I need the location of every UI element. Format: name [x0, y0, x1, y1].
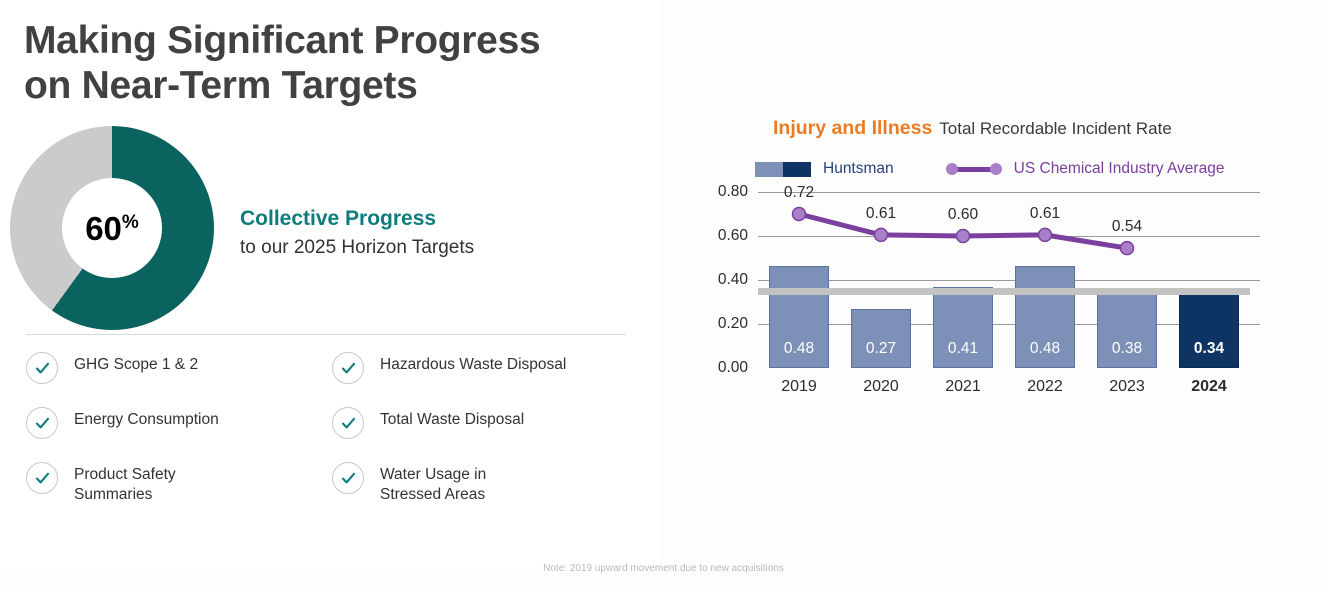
- line-series-us-average: 0.720.610.600.610.54: [758, 192, 1250, 368]
- legend-line-dot-left: [946, 163, 958, 175]
- check-icon: [26, 352, 58, 384]
- collective-progress-subheading: to our 2025 Horizon Targets: [240, 234, 600, 262]
- y-axis-tick-label: 0.60: [718, 227, 748, 245]
- line-point-label: 0.60: [948, 206, 978, 224]
- x-axis-label-2024: 2024: [1191, 378, 1227, 396]
- legend-swatch-dark: [783, 162, 811, 177]
- legend-swatch-light: [755, 162, 783, 177]
- checklist-item-label: Hazardous Waste Disposal: [380, 350, 566, 375]
- collective-progress-heading: Collective Progress: [240, 206, 600, 232]
- injury-illness-chart: Injury and IllnessTotal Recordable Incid…: [700, 112, 1300, 422]
- chart-legend: Huntsman US Chemical Industry Average: [755, 160, 1224, 178]
- checklist-column-left: GHG Scope 1 & 2Energy ConsumptionProduct…: [26, 350, 326, 515]
- donut-percent-symbol: %: [122, 213, 139, 232]
- donut-percent-number: 60: [85, 212, 122, 245]
- chart-title-primary: Injury and Illness: [773, 117, 932, 139]
- legend-label-huntsman: Huntsman: [823, 160, 894, 178]
- legend-label-us-average: US Chemical Industry Average: [1014, 160, 1225, 178]
- checklist-item-label: GHG Scope 1 & 2: [74, 350, 198, 375]
- checklist-item-label: Total Waste Disposal: [380, 405, 524, 430]
- us-average-line-path: [758, 192, 1250, 368]
- slide-canvas: Making Significant Progress on Near-Term…: [0, 0, 1327, 590]
- x-axis-label-2023: 2023: [1109, 378, 1145, 396]
- check-icon: [26, 462, 58, 494]
- x-axis-label-2019: 2019: [781, 378, 817, 396]
- x-axis-labels: 201920202021202220232024: [758, 378, 1250, 402]
- checklist-item-label: Energy Consumption: [74, 405, 219, 430]
- page-title: Making Significant Progress on Near-Term…: [24, 18, 644, 108]
- page-title-line-2: on Near-Term Targets: [24, 63, 644, 108]
- checklist-item-label: Water Usage inStressed Areas: [380, 460, 486, 505]
- y-axis-tick-label: 0.20: [718, 315, 748, 333]
- y-axis-tick-label: 0.00: [718, 359, 748, 377]
- page-title-line-1: Making Significant Progress: [24, 18, 644, 63]
- check-icon: [332, 352, 364, 384]
- chart-title: Injury and IllnessTotal Recordable Incid…: [773, 117, 1172, 140]
- checklist-item[interactable]: Water Usage inStressed Areas: [332, 460, 632, 515]
- checklist-column-right: Hazardous Waste DisposalTotal Waste Disp…: [332, 350, 632, 515]
- legend-line-marker: [946, 162, 1002, 176]
- line-point-label: 0.61: [1030, 205, 1060, 223]
- section-divider: [26, 334, 626, 335]
- chart-title-secondary: Total Recordable Incident Rate: [939, 119, 1171, 138]
- line-point-label: 0.54: [1112, 218, 1142, 236]
- line-point-label: 0.72: [784, 184, 814, 202]
- x-axis-label-2020: 2020: [863, 378, 899, 396]
- legend-swatch-huntsman: [755, 162, 811, 177]
- legend-line-dot-right: [990, 163, 1002, 175]
- checklist-item[interactable]: Total Waste Disposal: [332, 405, 632, 460]
- check-icon: [26, 407, 58, 439]
- checklist-item[interactable]: Hazardous Waste Disposal: [332, 350, 632, 405]
- x-axis-label-2022: 2022: [1027, 378, 1063, 396]
- collective-progress-text: Collective Progress to our 2025 Horizon …: [240, 206, 600, 262]
- checklist-item-label: Product SafetySummaries: [74, 460, 176, 505]
- x-axis-label-2021: 2021: [945, 378, 981, 396]
- y-axis-labels: 0.000.200.400.600.80: [700, 192, 748, 372]
- y-axis-tick-label: 0.80: [718, 183, 748, 201]
- check-icon: [332, 462, 364, 494]
- checklist-item[interactable]: GHG Scope 1 & 2: [26, 350, 326, 405]
- check-icon: [332, 407, 364, 439]
- legend-item-huntsman: Huntsman: [755, 160, 894, 178]
- collective-progress-donut: 60%: [10, 126, 214, 330]
- chart-baseline: [758, 288, 1250, 295]
- checklist-item[interactable]: Energy Consumption: [26, 405, 326, 460]
- legend-item-us-average: US Chemical Industry Average: [946, 160, 1225, 178]
- chart-footnote: Note: 2019 upward movement due to new ac…: [0, 563, 1327, 574]
- background-panel-bottom: [0, 575, 1327, 590]
- donut-percent-value: 60%: [85, 212, 139, 245]
- donut-center: 60%: [62, 178, 162, 278]
- y-axis-tick-label: 0.40: [718, 271, 748, 289]
- checklist-item[interactable]: Product SafetySummaries: [26, 460, 326, 515]
- line-point-label: 0.61: [866, 205, 896, 223]
